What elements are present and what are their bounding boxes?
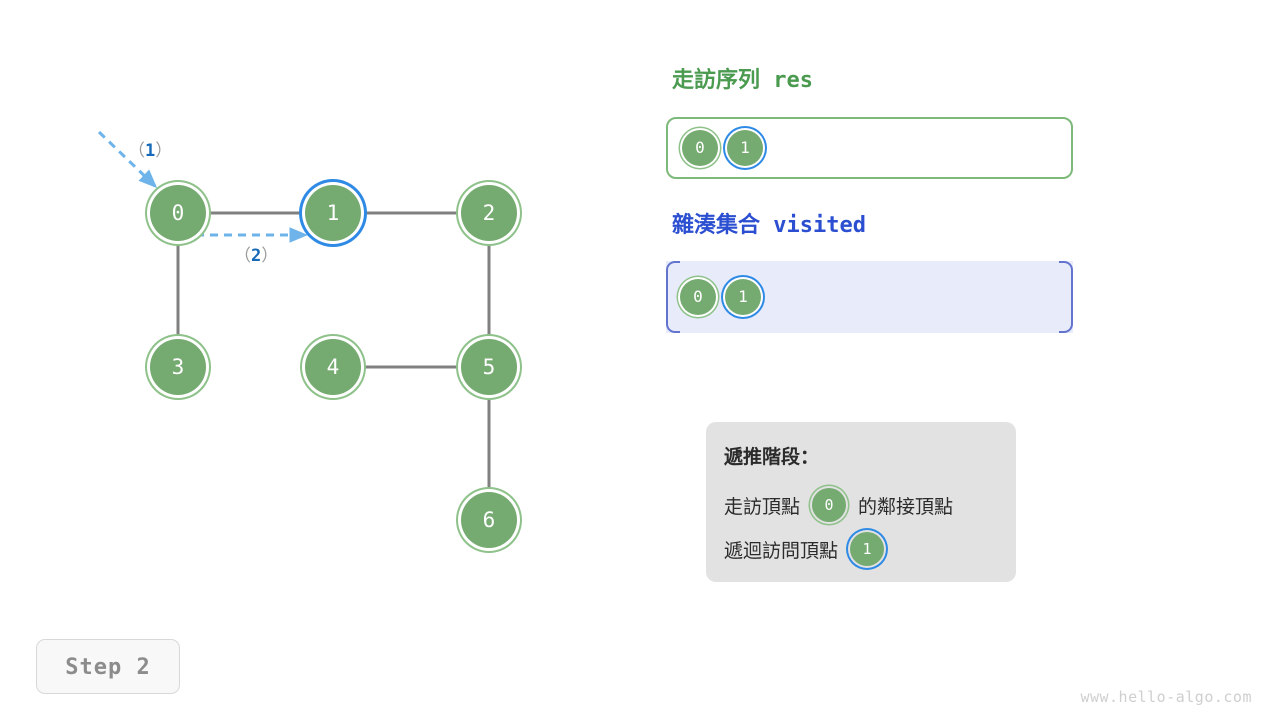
annotation-2-number: 2 — [251, 246, 261, 266]
graph-node-2[interactable]: 2 — [461, 185, 517, 241]
visited-container: 0 1 — [666, 261, 1073, 333]
graph-node-0-label: 0 — [150, 185, 206, 241]
visited-cell-1[interactable]: 1 — [725, 279, 761, 315]
annotation-1-open: （ — [128, 141, 145, 161]
info-heading: 遞推階段： — [724, 442, 1016, 469]
graph-node-4[interactable]: 4 — [305, 339, 361, 395]
right-panel: 走訪序列 res 0 1 雜湊集合 visited 0 1 遞推階段： 走訪頂點… — [666, 0, 1280, 720]
res-cell-0[interactable]: 0 — [682, 130, 718, 166]
graph-node-6-label: 6 — [461, 492, 517, 548]
res-section-title: 走訪序列 res — [672, 62, 813, 94]
graph-node-3[interactable]: 3 — [150, 339, 206, 395]
visited-left-bracket — [666, 261, 680, 333]
res-cell-row: 0 1 — [682, 119, 763, 177]
res-container: 0 1 — [666, 117, 1073, 179]
graph-node-3-label: 3 — [150, 339, 206, 395]
visited-right-bracket — [1059, 261, 1073, 333]
info-line-1: 走訪頂點 0 的鄰接頂點 — [724, 483, 1016, 527]
info-line-2: 遞迴訪問頂點 1 — [724, 527, 1016, 571]
info-line-2-before: 遞迴訪問頂點 — [724, 536, 838, 563]
graph-panel: （1） （2） 0 1 2 3 4 5 6 — [0, 0, 640, 720]
annotation-2-open: （ — [234, 246, 251, 266]
graph-node-0[interactable]: 0 — [150, 185, 206, 241]
graph-node-1-label: 1 — [305, 185, 361, 241]
watermark: www.hello-algo.com — [1080, 688, 1252, 706]
graph-node-5-label: 5 — [461, 339, 517, 395]
annotation-1-number: 1 — [145, 141, 155, 161]
graph-node-2-label: 2 — [461, 185, 517, 241]
res-cell-1[interactable]: 1 — [727, 130, 763, 166]
info-line-1-before: 走訪頂點 — [724, 492, 800, 519]
graph-node-4-label: 4 — [305, 339, 361, 395]
annotation-label-1: （1） — [128, 136, 172, 161]
visited-cell-0[interactable]: 0 — [680, 279, 716, 315]
graph-node-5[interactable]: 5 — [461, 339, 517, 395]
visited-cell-row: 0 1 — [680, 261, 761, 333]
info-box: 遞推階段： 走訪頂點 0 的鄰接頂點 遞迴訪問頂點 1 — [706, 422, 1016, 582]
info-line-1-after: 的鄰接頂點 — [858, 492, 953, 519]
annotation-label-2: （2） — [234, 241, 278, 266]
info-line-2-token: 1 — [850, 532, 884, 566]
graph-node-6[interactable]: 6 — [461, 492, 517, 548]
annotation-2-close: ） — [261, 246, 278, 266]
step-badge: Step 2 — [36, 639, 180, 694]
visited-section-title: 雜湊集合 visited — [672, 207, 866, 239]
annotation-1-close: ） — [155, 141, 172, 161]
graph-node-1[interactable]: 1 — [305, 185, 361, 241]
info-line-1-token: 0 — [812, 488, 846, 522]
